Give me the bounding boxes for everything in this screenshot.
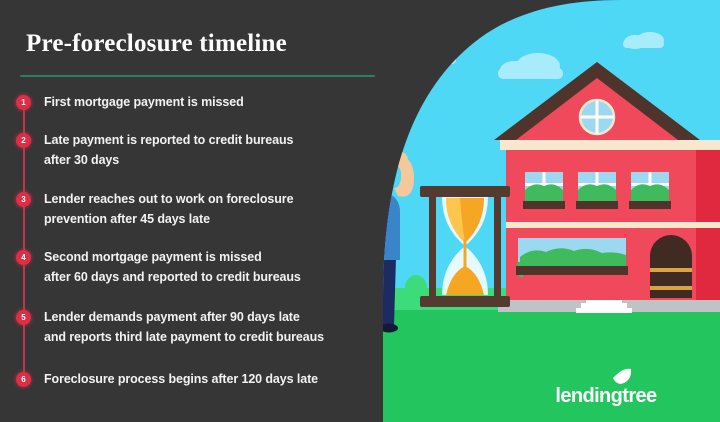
hourglass-post-right [494, 190, 501, 302]
step-text: Foreclosure process begins after 120 day… [44, 369, 318, 389]
step-text: Second mortgage payment is missed after … [44, 247, 301, 287]
house-mid-band [506, 222, 720, 228]
window-box [523, 201, 565, 209]
hourglass-illustration [420, 186, 510, 307]
list-item[interactable]: 5 Lender demands payment after 90 days l… [0, 310, 395, 347]
step-line: Late payment is reported to credit burea… [44, 130, 293, 150]
upper-window [629, 172, 671, 209]
hourglass-post-left [429, 190, 436, 302]
door-band [650, 286, 692, 290]
content-panel: Pre-foreclosure timeline 1 First mortgag… [0, 0, 400, 422]
step-line: Lender reaches out to work on foreclosur… [44, 189, 293, 209]
window-box [516, 266, 628, 275]
step-badge: 4 [16, 250, 31, 265]
list-item[interactable]: 2 Late payment is reported to credit bur… [0, 133, 395, 170]
list-item[interactable]: 3 Lender reaches out to work on foreclos… [0, 192, 395, 229]
step-line: Foreclosure process begins after 120 day… [44, 369, 318, 389]
step-line: after 30 days [44, 150, 293, 170]
step-line: Second mortgage payment is missed [44, 247, 301, 267]
door-band [650, 268, 692, 272]
step-badge: 6 [16, 372, 31, 387]
step-text: Late payment is reported to credit burea… [44, 130, 293, 170]
cloud-icon [412, 47, 456, 66]
list-item[interactable]: 6 Foreclosure process begins after 120 d… [0, 372, 395, 389]
step-badge: 1 [16, 95, 31, 110]
step-line: and reports third late payment to credit… [44, 327, 324, 347]
step-line: Lender demands payment after 90 days lat… [44, 307, 324, 327]
step-badge: 3 [16, 192, 31, 207]
window-box [576, 201, 618, 209]
list-item[interactable]: 1 First mortgage payment is missed [0, 95, 395, 112]
roof-ledge [500, 140, 720, 150]
hourglass-bottom-bar [420, 296, 510, 307]
window-box [629, 201, 671, 209]
step-badge: 5 [16, 310, 31, 325]
page-title: Pre-foreclosure timeline [26, 30, 287, 58]
step-text: Lender demands payment after 90 days lat… [44, 307, 324, 347]
step-text: First mortgage payment is missed [44, 92, 244, 112]
list-item[interactable]: 4 Second mortgage payment is missed afte… [0, 250, 395, 287]
step-text: Lender reaches out to work on foreclosur… [44, 189, 293, 229]
hourglass-top-bar [420, 186, 510, 197]
step-line: prevention after 45 days late [44, 209, 293, 229]
attic-window-mullion-h [580, 116, 614, 119]
infographic-root: lendingtree Pre-foreclosure timeline 1 F… [0, 0, 720, 422]
title-divider [20, 75, 375, 77]
step-badge: 2 [16, 133, 31, 148]
step-line: First mortgage payment is missed [44, 92, 244, 112]
lower-window [516, 238, 628, 278]
upper-window [576, 172, 618, 209]
step-line: after 60 days and reported to credit bur… [44, 267, 301, 287]
upper-window [523, 172, 565, 209]
logo-text: lendingtree [555, 385, 657, 407]
